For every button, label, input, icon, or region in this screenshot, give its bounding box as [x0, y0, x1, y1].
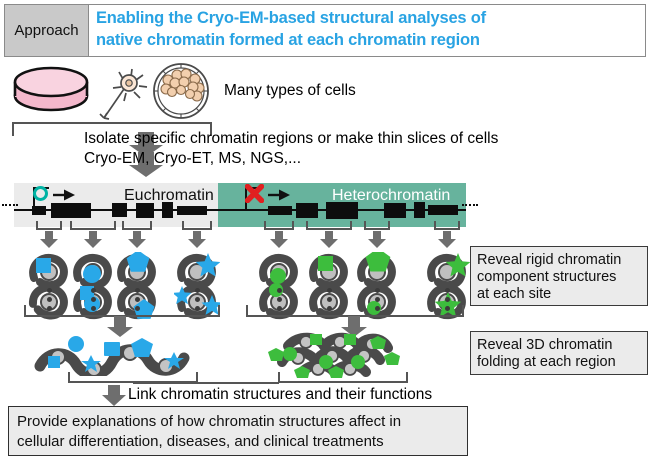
chromatin-site-bracket — [70, 221, 116, 230]
conclusion-line2: cellular differentiation, diseases, and … — [17, 432, 459, 452]
site-arrow-down-icon — [83, 231, 103, 249]
transcription-arrow-icon — [53, 189, 75, 201]
blocked-transcription-arrow-icon — [268, 189, 290, 201]
conclusion-line1: Provide explanations of how chromatin st… — [17, 412, 459, 432]
exon-block — [51, 203, 91, 218]
exon-block — [326, 202, 358, 219]
exon-block — [268, 206, 292, 215]
site-arrow-down-icon — [367, 231, 387, 249]
chromatin-site-bracket — [364, 221, 390, 230]
outcome-folding-line1: Reveal 3D chromatin — [477, 337, 641, 354]
approach-tag: Approach — [5, 5, 89, 56]
link-chromatin-label: Link chromatin structures and their func… — [128, 386, 432, 404]
link-connector-line — [133, 382, 279, 384]
dna-dotted-end-right — [462, 204, 478, 206]
isolate-step-label: Isolate specific chromatin regions or ma… — [84, 130, 498, 148]
outcome-rigid-line1: Reveal rigid chromatin — [477, 252, 641, 269]
many-types-of-cells-label: Many types of cells — [224, 82, 356, 100]
page-title-line2: native chromatin formed at each chromati… — [96, 29, 636, 51]
exon-block — [414, 202, 425, 218]
heterochromatin-3d-folding-illustration — [268, 328, 428, 378]
chromatin-site-bracket — [182, 221, 212, 230]
silenced-promoter-x-icon — [245, 184, 264, 203]
approach-tag-label: Approach — [14, 22, 78, 39]
site-arrow-down-icon — [39, 231, 59, 249]
chromatin-site-bracket — [122, 221, 152, 230]
page-title: Enabling the Cryo-EM-based structural an… — [96, 7, 636, 55]
site-arrow-down-icon — [319, 231, 339, 249]
exon-block — [177, 206, 207, 215]
outcome-folding-line2: folding at each region — [477, 354, 641, 371]
exon-block — [162, 202, 173, 218]
site-arrow-down-icon — [437, 231, 457, 249]
techniques-label: Cryo-EM, Cryo-ET, MS, NGS,... — [84, 150, 301, 168]
conclusion-box: Provide explanations of how chromatin st… — [8, 406, 468, 456]
outcome-rigid-structures-box: Reveal rigid chromatin component structu… — [470, 246, 648, 306]
dna-dotted-end-left — [2, 204, 18, 206]
process-arrow-down-icon — [101, 385, 127, 407]
active-promoter-circle-icon — [33, 186, 48, 201]
site-arrow-down-icon — [269, 231, 289, 249]
culture-dish-icon — [12, 66, 90, 114]
chromatin-site-bracket — [264, 221, 294, 230]
outcome-rigid-line2: component structures — [477, 269, 641, 286]
exon-block — [384, 203, 406, 218]
embryo-blastocyst-icon — [150, 62, 212, 120]
outcome-rigid-line3: at each site — [477, 286, 641, 303]
neuron-cell-icon — [98, 62, 150, 122]
page-title-line1: Enabling the Cryo-EM-based structural an… — [96, 7, 636, 29]
euchromatin-3d-folding-illustration — [34, 330, 212, 376]
exon-block — [112, 203, 127, 217]
exon-block — [296, 203, 318, 218]
heterochromatin-folding-bracket — [278, 372, 408, 383]
outcome-3d-folding-box: Reveal 3D chromatin folding at each regi… — [470, 331, 648, 375]
exon-block — [136, 203, 154, 218]
chromatin-site-bracket — [434, 221, 460, 230]
chromatin-site-bracket — [306, 221, 352, 230]
site-arrow-down-icon — [127, 231, 147, 249]
chromatin-site-bracket — [36, 221, 62, 230]
exon-block — [428, 205, 458, 215]
site-arrow-down-icon — [187, 231, 207, 249]
